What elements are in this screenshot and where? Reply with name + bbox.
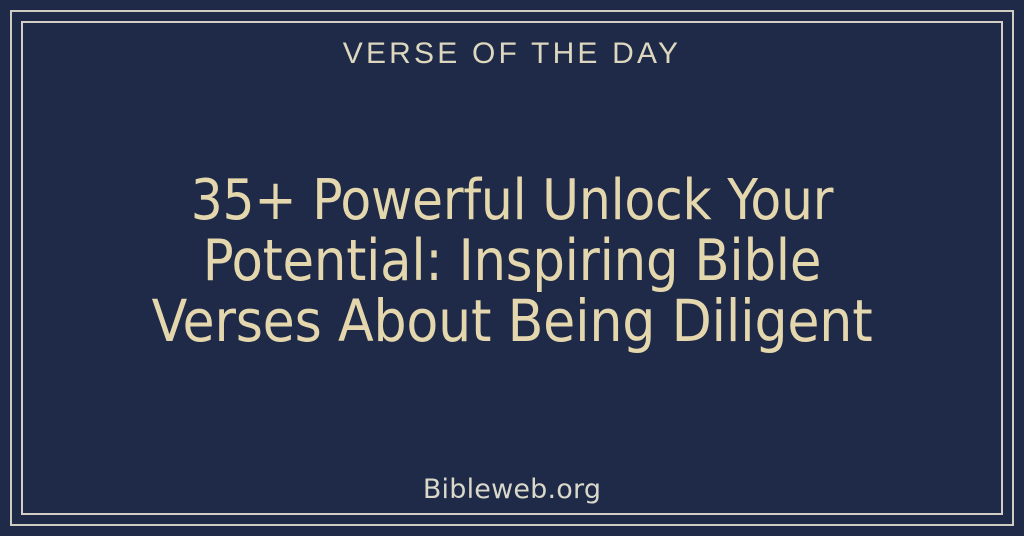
eyebrow-label: VERSE OF THE DAY (343, 36, 682, 72)
verse-of-the-day-card: VERSE OF THE DAY 35+ Powerful Unlock You… (0, 0, 1024, 536)
site-attribution: Bibleweb.org (0, 474, 1024, 505)
page-title: 35+ Powerful Unlock Your Potential: Insp… (62, 171, 962, 351)
title-line-2: Potential: Inspiring Bible (62, 231, 962, 291)
title-line-3: Verses About Being Diligent (62, 291, 962, 351)
card-content: VERSE OF THE DAY 35+ Powerful Unlock You… (0, 0, 1024, 536)
title-line-1: 35+ Powerful Unlock Your (62, 171, 962, 231)
